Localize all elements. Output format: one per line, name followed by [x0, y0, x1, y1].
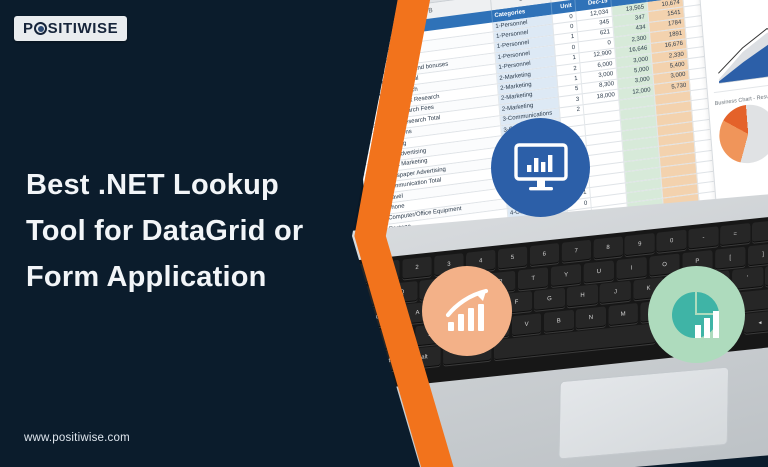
- left-content-panel: PSITIWISE Best .NET Lookup Tool for Data…: [0, 0, 400, 467]
- page-title: Best .NET Lookup Tool for DataGrid or Fo…: [26, 162, 356, 300]
- positiwise-logo[interactable]: PSITIWISE: [14, 16, 127, 41]
- footer-website-url[interactable]: www.positiwise.com: [24, 432, 130, 444]
- headline-line-3: Form Application: [26, 254, 356, 300]
- headline-line-1: Best .NET Lookup: [26, 162, 356, 208]
- logo-text: PSITIWISE: [23, 21, 118, 36]
- logo-o-icon: [34, 22, 47, 35]
- headline-line-2: Tool for DataGrid or: [26, 208, 356, 254]
- banner: Tables Charts View: [0, 0, 768, 467]
